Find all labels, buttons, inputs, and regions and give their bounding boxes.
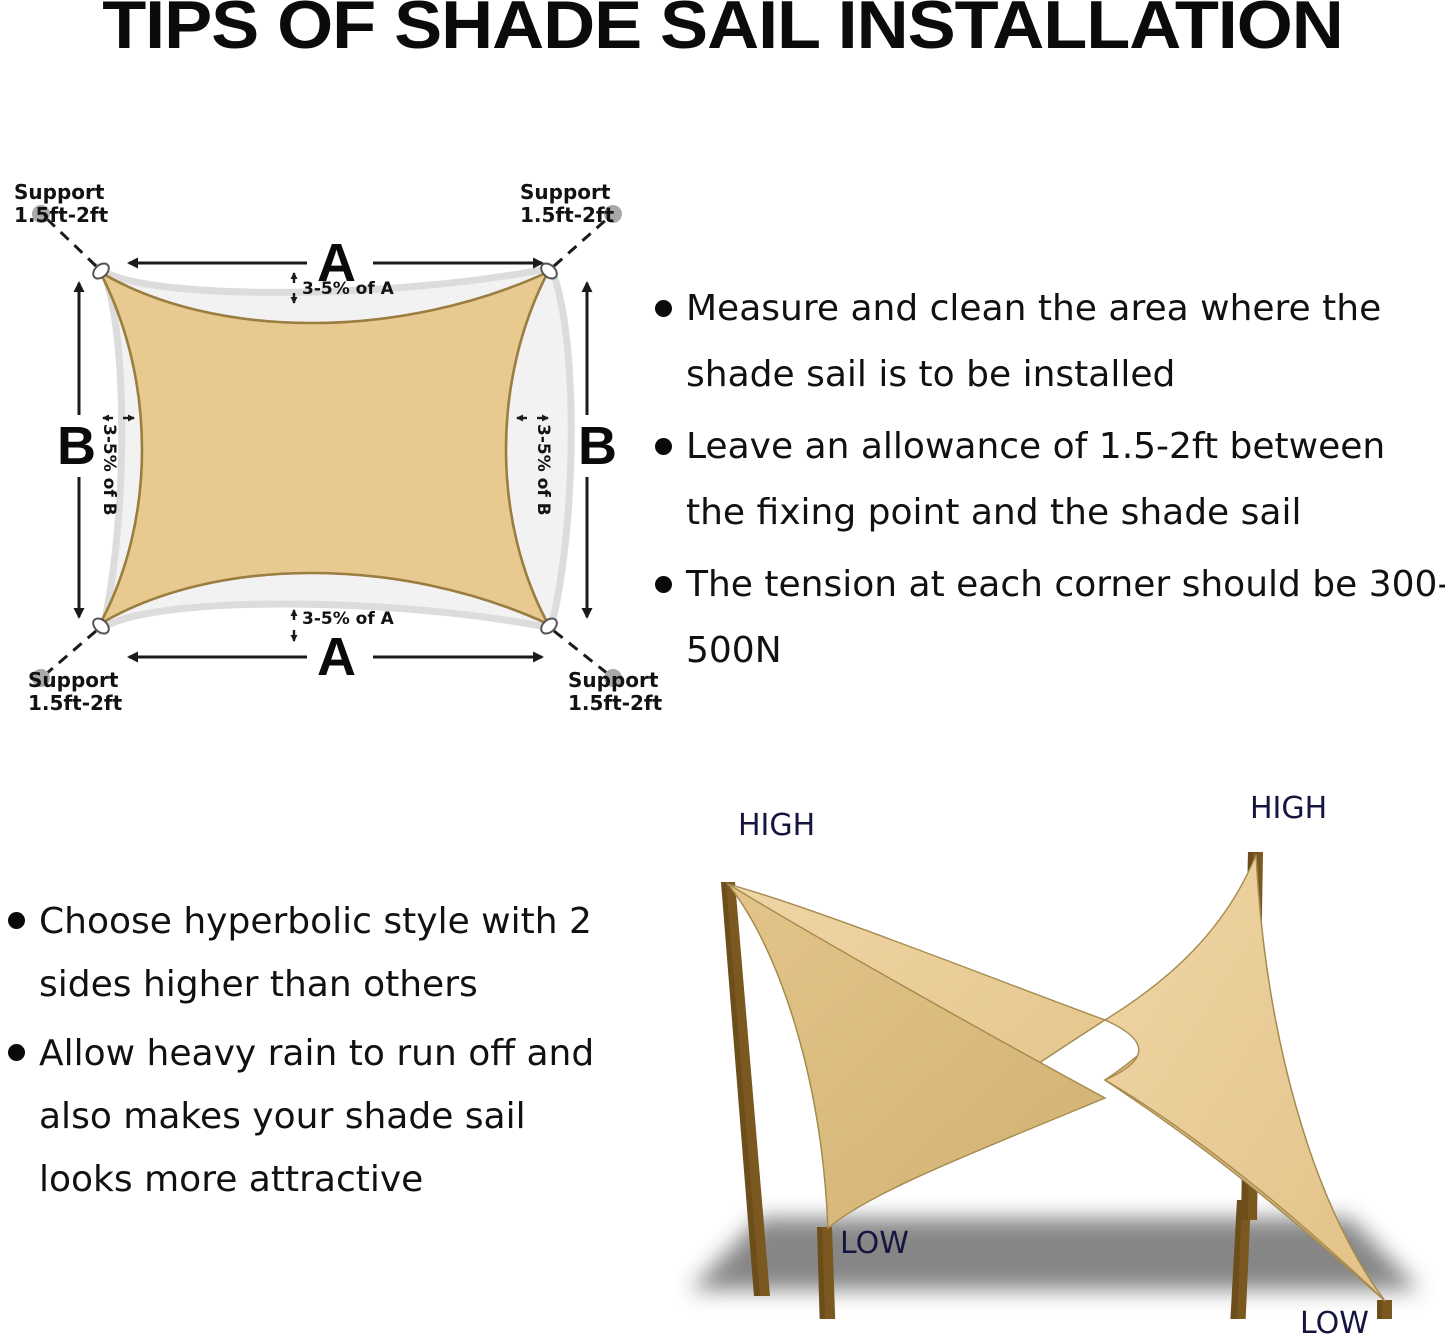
label-post-far-low: LOW [1300,1309,1369,1339]
support-label-top-right: Support1.5ft-2ft [520,181,614,227]
hyperbolic-sail-illustration: HIGH HIGH LOW LOW [650,780,1445,1319]
tip-text: Choose hyperbolic style with 2 sides hig… [39,890,628,1016]
curvature-label-left: 3-5% of B [100,424,117,516]
support-label-top-left: Support1.5ft-2ft [14,181,108,227]
support-label-bottom-left: Support1.5ft-2ft [28,669,122,715]
installation-tips-list: Measure and clean the area where the sha… [655,276,1445,690]
label-post-right-high: HIGH [1250,794,1327,824]
sail-body [100,272,548,624]
dimension-letter-b-left: B [57,419,96,473]
support-label-bottom-right: Support1.5ft-2ft [568,669,662,715]
bullet-icon [655,576,672,593]
tip-text: Measure and clean the area where the sha… [686,276,1445,408]
label-post-left-high: HIGH [738,811,815,841]
tip-text: The tension at each corner should be 300… [686,552,1445,684]
list-item: Leave an allowance of 1.5-2ft between th… [655,414,1445,546]
curvature-label-right: 3-5% of B [534,424,551,516]
list-item: Measure and clean the area where the sha… [655,276,1445,408]
list-item: The tension at each corner should be 300… [655,552,1445,684]
tip-text: Leave an allowance of 1.5-2ft between th… [686,414,1445,546]
bullet-icon [655,300,672,317]
bullet-icon [8,1044,25,1061]
list-item: Allow heavy rain to run off and also mak… [8,1022,628,1211]
bullet-icon [655,438,672,455]
label-post-mid-low: LOW [840,1229,909,1259]
dimension-letter-b-right: B [578,419,617,473]
bullet-icon [8,912,25,929]
dimension-letter-a-bottom: A [317,630,356,684]
post-far-low [1377,1300,1392,1319]
tip-text: Allow heavy rain to run off and also mak… [39,1022,628,1211]
hyperbolic-tips-list: Choose hyperbolic style with 2 sides hig… [8,890,628,1217]
curvature-label-bottom: 3-5% of A [302,611,394,628]
hyperbolic-sail-svg [650,780,1445,1319]
curvature-label-top: 3-5% of A [302,281,394,298]
list-item: Choose hyperbolic style with 2 sides hig… [8,890,628,1016]
